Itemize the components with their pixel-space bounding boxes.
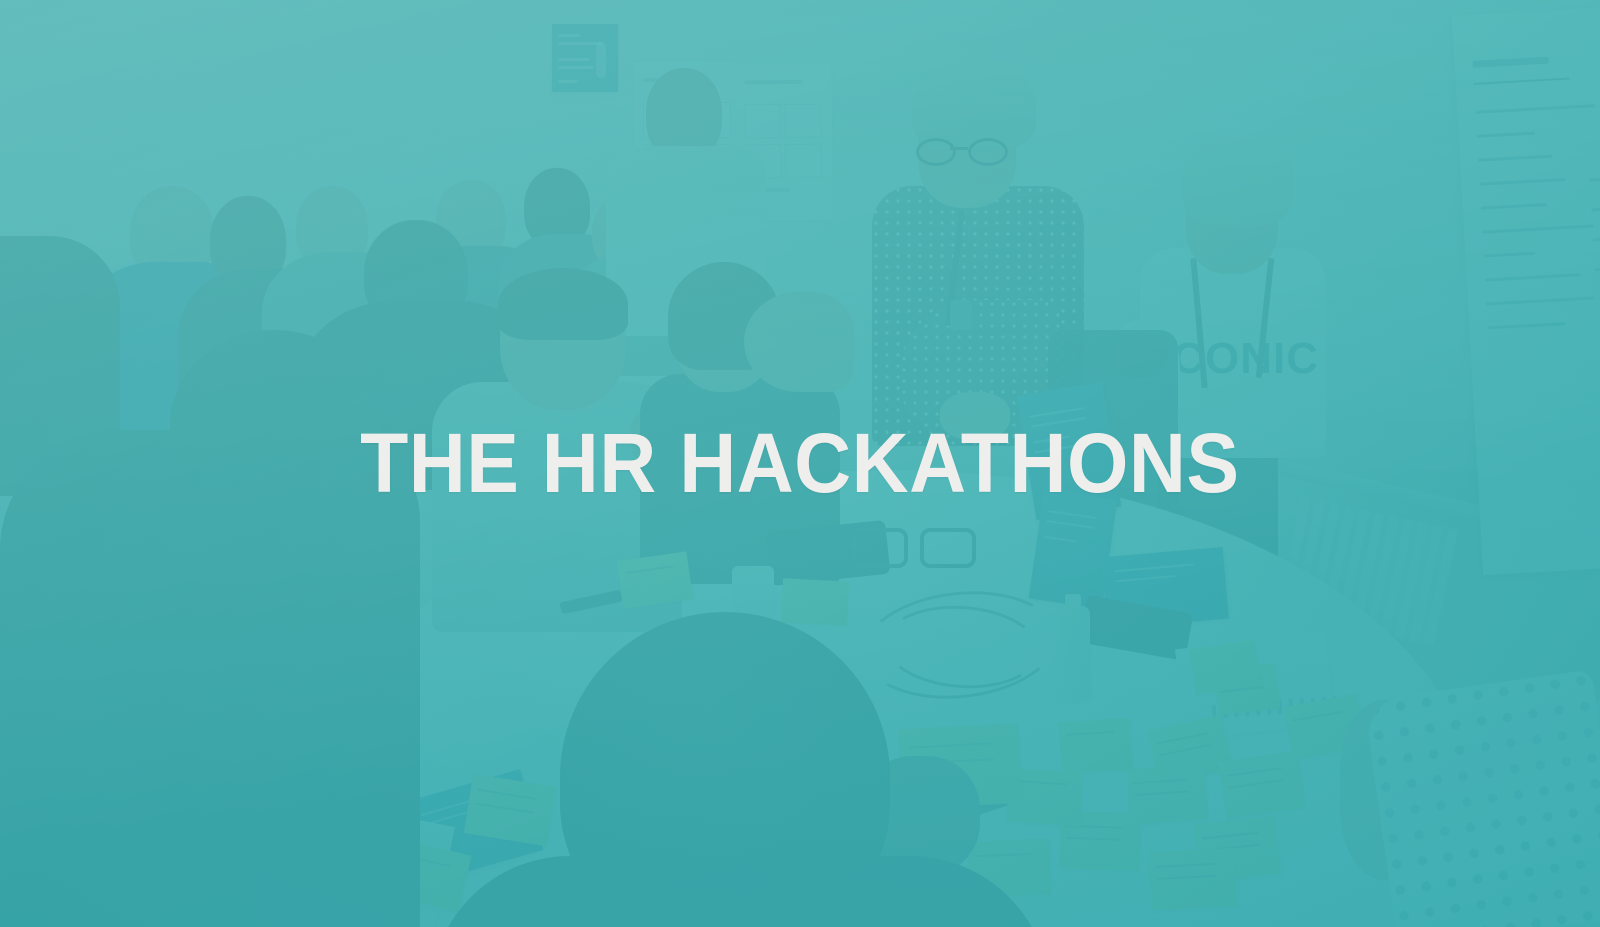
page-title: THE HR HACKATHONS	[360, 421, 1239, 505]
title-container: THE HR HACKATHONS	[0, 0, 1600, 927]
title-slide: ICONIC	[0, 0, 1600, 927]
